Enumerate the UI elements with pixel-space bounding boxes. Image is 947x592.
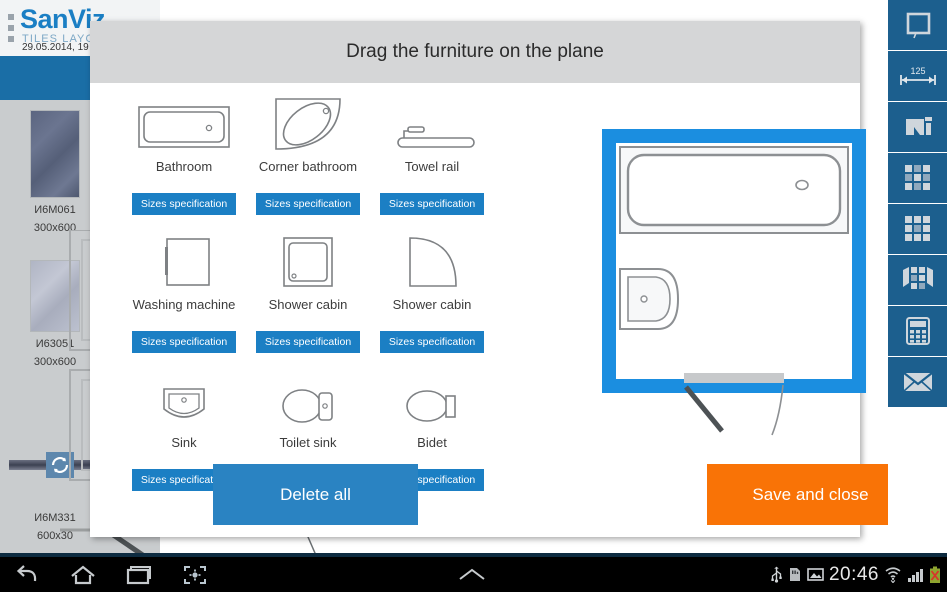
sizes-specification-button[interactable]: Sizes specification	[256, 331, 360, 353]
chevron-up-icon	[457, 565, 487, 585]
sizes-specification-button[interactable]: Sizes specification	[256, 193, 360, 215]
android-navbar: 20:46	[0, 557, 947, 592]
furniture-label: Shower cabin	[246, 297, 370, 331]
sizes-specification-button[interactable]: Sizes specification	[380, 331, 484, 353]
save-and-close-button[interactable]: Save and close	[707, 464, 914, 525]
app-root: SanViz TILES LAYOUT 29.05.2014, 19 fps G…	[0, 0, 947, 592]
furniture-item-shower-cabin-square[interactable]: Shower cabin Sizes specification	[246, 229, 370, 367]
toilet-icon[interactable]	[246, 367, 370, 429]
home-icon	[70, 564, 96, 586]
right-toolbar: 125	[888, 0, 947, 557]
room-plan-canvas[interactable]	[590, 121, 890, 441]
sdcard-icon	[788, 566, 802, 583]
measure-icon: 125	[896, 61, 940, 91]
tool-unfold-walls[interactable]	[888, 255, 947, 305]
bidet-icon[interactable]	[370, 367, 494, 429]
screenshot-icon	[182, 564, 208, 586]
shower-cabin-square-icon[interactable]	[246, 229, 370, 291]
usb-icon	[770, 566, 783, 583]
furniture-dialog: Drag the furniture on the plane Bathroom…	[90, 21, 860, 537]
furniture-item-corner-bathroom[interactable]: Corner bathroom Sizes specification	[246, 91, 370, 229]
home-button[interactable]	[63, 561, 103, 589]
furniture-item-bathroom[interactable]: Bathroom Sizes specification	[122, 91, 246, 229]
screenshot-button[interactable]	[175, 561, 215, 589]
unfold-walls-icon	[901, 265, 935, 295]
expand-statusbar-button[interactable]	[452, 561, 492, 589]
corner-bathtub-icon[interactable]	[246, 91, 370, 153]
recents-icon	[125, 564, 151, 586]
bathtub-icon[interactable]	[122, 91, 246, 153]
tile-grid-icon	[904, 164, 932, 192]
door-opening	[684, 373, 784, 383]
mail-icon	[902, 370, 934, 394]
towel-rail-icon[interactable]	[370, 91, 494, 153]
sink-icon[interactable]	[122, 367, 246, 429]
furniture-item-towel-rail[interactable]: Towel rail Sizes specification	[370, 91, 494, 229]
furniture-item-shower-cabin-corner[interactable]: Shower cabin Sizes specification	[370, 229, 494, 367]
sizes-specification-button[interactable]: Sizes specification	[132, 331, 236, 353]
image-icon	[807, 567, 824, 582]
tool-tile-grid[interactable]	[888, 153, 947, 203]
status-bar[interactable]: 20:46	[770, 559, 941, 590]
menu-dots-icon[interactable]	[8, 14, 14, 47]
tool-tile-layout[interactable]	[888, 204, 947, 254]
furniture-label: Corner bathroom	[246, 159, 370, 193]
measure-value: 125	[910, 66, 925, 76]
tool-mail[interactable]	[888, 357, 947, 407]
tile-thumbnail[interactable]	[30, 110, 80, 198]
calculator-icon	[905, 316, 931, 346]
furniture-row: Bathroom Sizes specification Corner bath…	[122, 91, 522, 229]
wifi-icon	[884, 566, 902, 583]
tile-layout-icon	[904, 215, 932, 243]
placed-sink	[620, 269, 678, 329]
tool-fixtures[interactable]	[888, 102, 947, 152]
clock: 20:46	[829, 564, 879, 586]
washing-machine-icon[interactable]	[122, 229, 246, 291]
furniture-row: Washing machine Sizes specification Show…	[122, 229, 522, 367]
furniture-palette: Bathroom Sizes specification Corner bath…	[122, 91, 522, 505]
furniture-label: Washing machine	[122, 297, 246, 331]
signal-icon	[907, 567, 924, 583]
placed-bathtub	[620, 147, 848, 233]
dialog-title: Drag the furniture on the plane	[90, 21, 860, 83]
shower-cabin-corner-icon[interactable]	[370, 229, 494, 291]
battery-icon	[929, 566, 941, 584]
fixtures-icon	[902, 113, 934, 141]
furniture-label: Towel rail	[370, 159, 494, 193]
sizes-specification-button[interactable]: Sizes specification	[132, 193, 236, 215]
delete-all-button[interactable]: Delete all	[213, 464, 418, 525]
furniture-label: Shower cabin	[370, 297, 494, 331]
room-shape-icon	[903, 10, 933, 40]
tool-calculator[interactable]	[888, 306, 947, 356]
tool-measure[interactable]: 125	[888, 51, 947, 101]
furniture-label: Bathroom	[122, 159, 246, 193]
back-icon	[15, 564, 41, 586]
tool-room-shape[interactable]	[888, 0, 947, 50]
door-leaf	[686, 387, 722, 431]
back-button[interactable]	[8, 561, 48, 589]
furniture-item-washing-machine[interactable]: Washing machine Sizes specification	[122, 229, 246, 367]
sizes-specification-button[interactable]: Sizes specification	[380, 193, 484, 215]
recents-button[interactable]	[118, 561, 158, 589]
